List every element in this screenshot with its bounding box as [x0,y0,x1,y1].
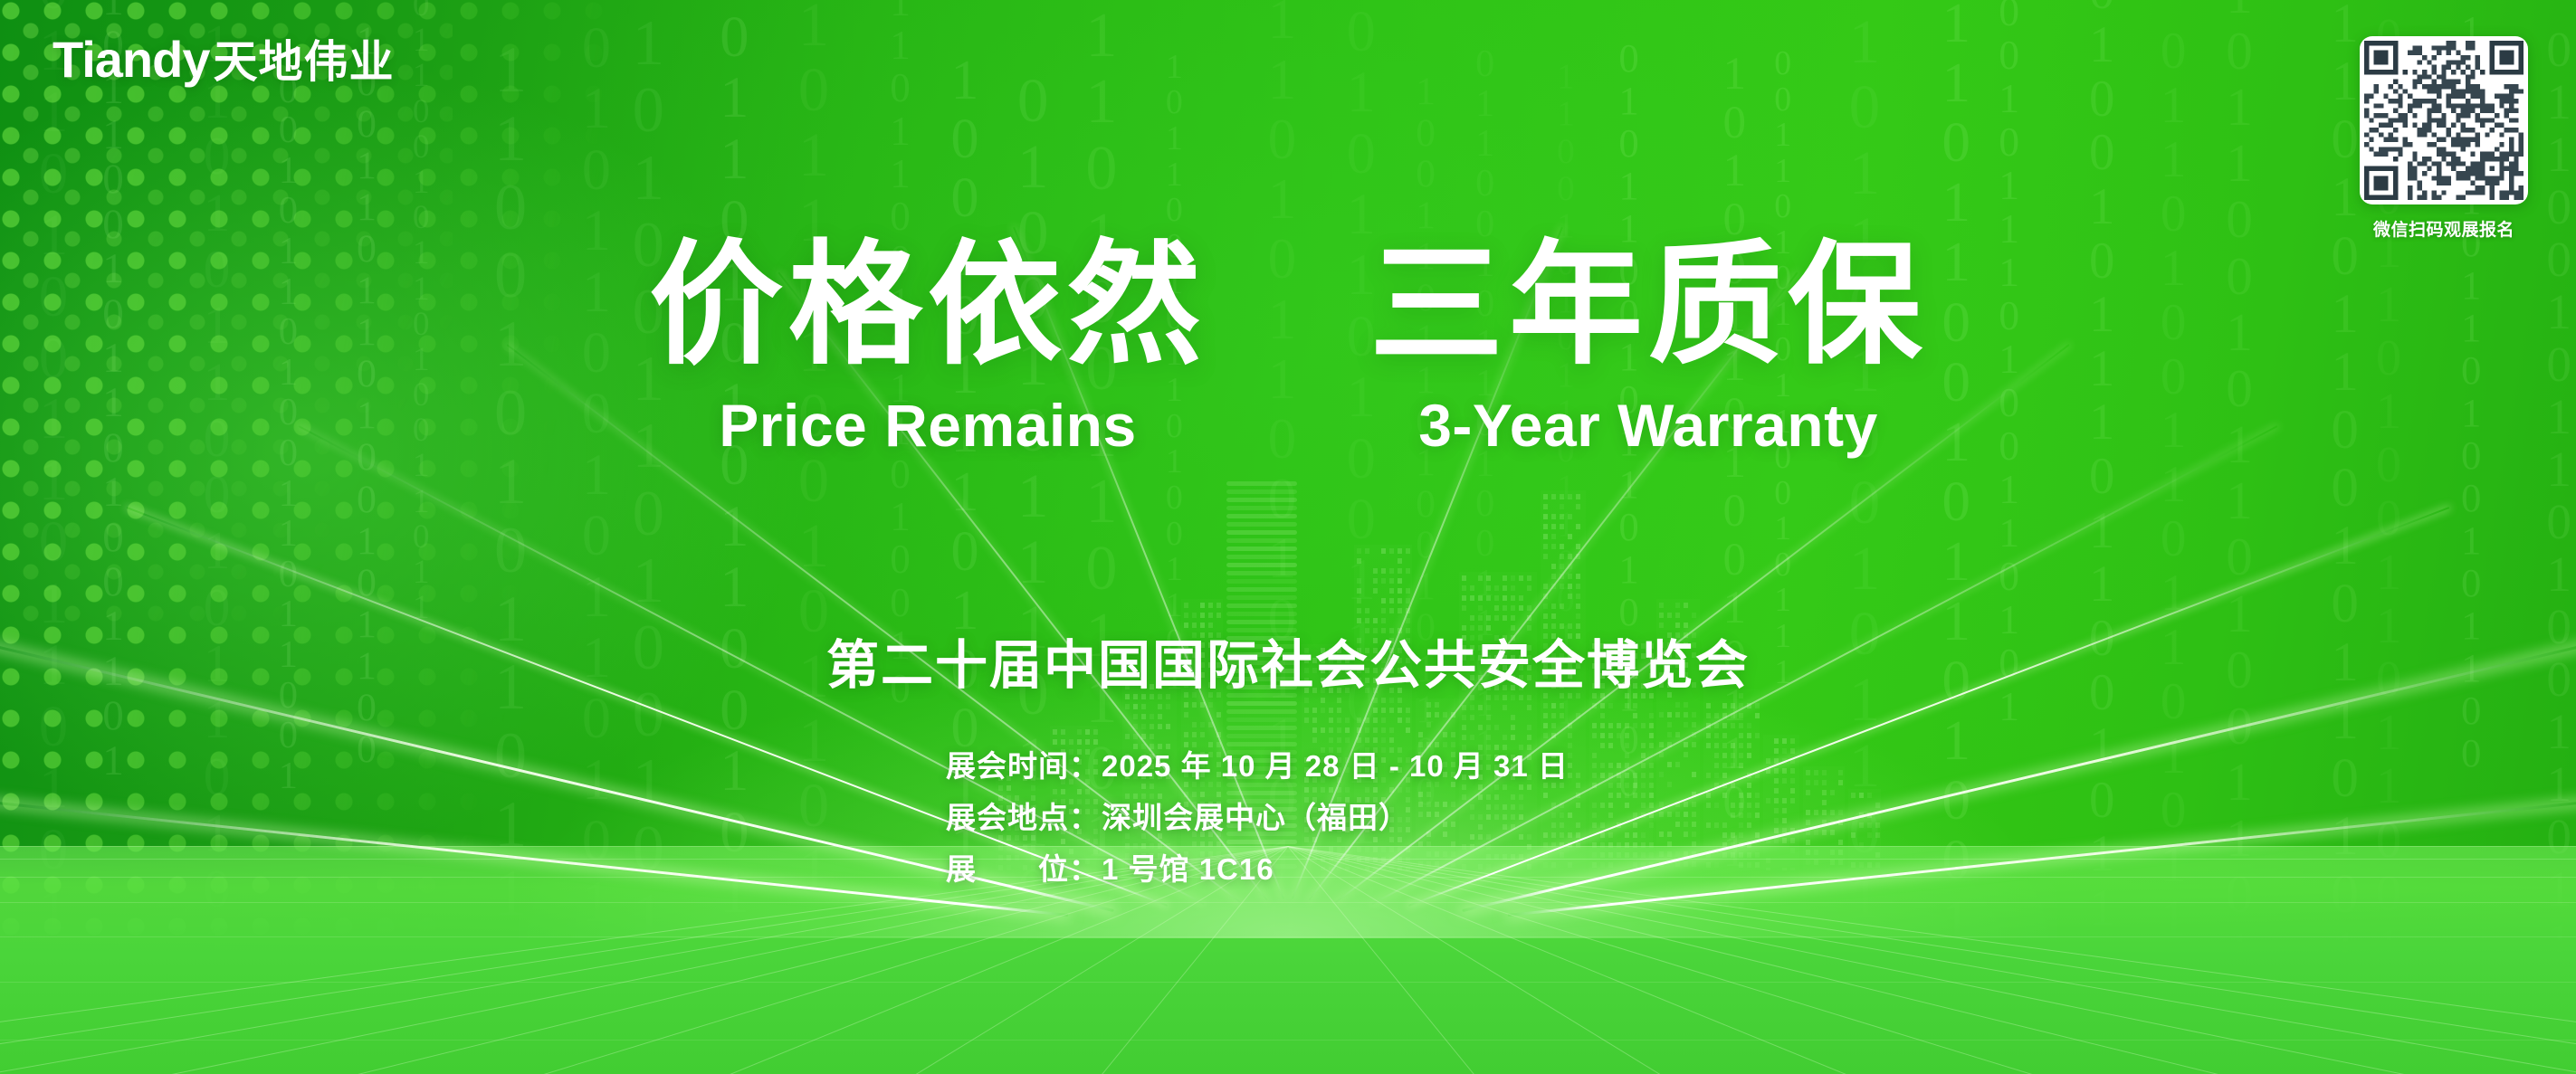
headline-en-warranty: 3-Year Warranty [1369,393,1927,459]
detail-label-booth: 展 位： [946,843,1100,895]
headline-en-price: Price Remains [649,393,1207,459]
detail-label-date: 展会时间： [946,740,1100,792]
promo-banner: 0 1 1 0 1 0 0 1 1 0 1 1 0 1 0 1 1 01 0 1… [0,0,2576,1074]
detail-row-booth: 展 位：1 号馆 1C16 [946,843,1569,895]
floor-grid-line [0,902,2576,903]
logo-latin-text: Tiandy [52,31,209,88]
floor-grid-line [0,982,2576,983]
detail-value-date: 2025 年 10 月 28 日 - 10 月 31 日 [1102,749,1569,783]
logo-chinese-text: 天地伟业 [213,38,394,87]
floor-grid-line [0,936,2576,937]
detail-value-venue: 深圳会展中心（福田） [1102,801,1409,834]
expo-title: 第二十届中国国际社会公共安全博览会 [0,623,2576,699]
brand-logo: Tiandy天地伟业 [52,34,394,85]
headline-item-warranty: 三年质保 3-Year Warranty [1369,233,1927,458]
headline-cn-warranty: 三年质保 [1369,233,1927,378]
detail-label-venue: 展会地点： [946,792,1100,843]
headline-cn-price: 价格依然 [649,233,1207,378]
headline-group: 价格依然 Price Remains 三年质保 3-Year Warranty [0,233,2576,458]
detail-row-date: 展会时间：2025 年 10 月 28 日 - 10 月 31 日 [946,740,1569,792]
floor-grid-line [0,1040,2576,1041]
detail-row-venue: 展会地点：深圳会展中心（福田） [946,792,1569,843]
headline-item-price: 价格依然 Price Remains [649,233,1207,458]
qr-registration-block[interactable]: 微信扫码观展报名 [2355,36,2533,241]
qr-code-icon[interactable] [2360,36,2528,204]
expo-details: 展会时间：2025 年 10 月 28 日 - 10 月 31 日 展会地点：深… [946,740,1569,895]
detail-value-booth: 1 号馆 1C16 [1102,852,1274,886]
